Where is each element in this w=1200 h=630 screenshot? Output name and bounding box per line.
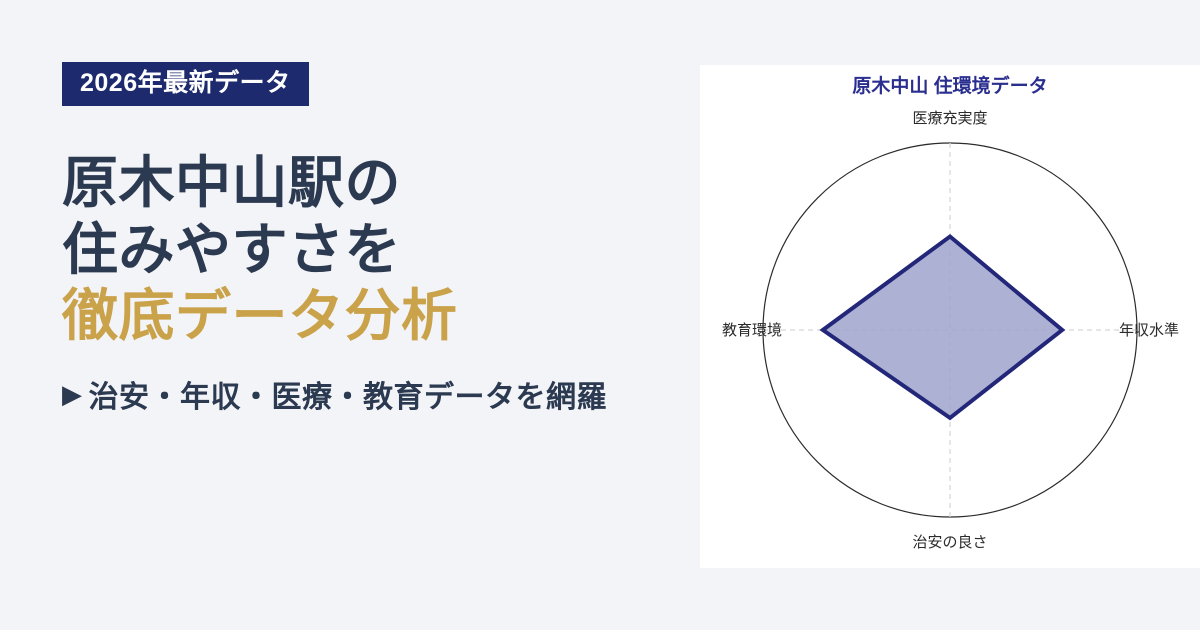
radar-label-top: 医療充実度	[912, 110, 987, 127]
hero-left-panel: 2026年最新データ 原木中山駅の 住みやすさを 徹底データ分析 ▶ 治安・年収…	[0, 0, 700, 630]
triangle-marker-icon: ▶	[62, 381, 83, 407]
page-title: 原木中山駅の 住みやすさを 徹底データ分析	[62, 150, 700, 350]
subtitle: ▶ 治安・年収・医療・教育データを網羅	[62, 372, 700, 416]
headline-line-3-accent: 徹底データ分析	[62, 283, 700, 350]
radar-data-polygon	[823, 237, 1062, 418]
subtitle-text: 治安・年収・医療・教育データを網羅	[89, 372, 608, 416]
chart-title: 原木中山 住環境データ	[852, 74, 1047, 97]
radar-label-right: 年収水準	[1119, 322, 1179, 339]
radar-chart: 原木中山 住環境データ 医療充実度 年収水準 治安の良さ 教育環境	[700, 65, 1200, 568]
radar-chart-panel: 原木中山 住環境データ 医療充実度 年収水準 治安の良さ 教育環境	[700, 65, 1200, 568]
radar-label-left: 教育環境	[722, 321, 782, 339]
headline-line-2: 住みやすさを	[62, 217, 700, 284]
date-badge: 2026年最新データ	[62, 62, 309, 106]
radar-label-bottom: 治安の良さ	[912, 534, 987, 551]
headline-line-1: 原木中山駅の	[62, 150, 700, 217]
